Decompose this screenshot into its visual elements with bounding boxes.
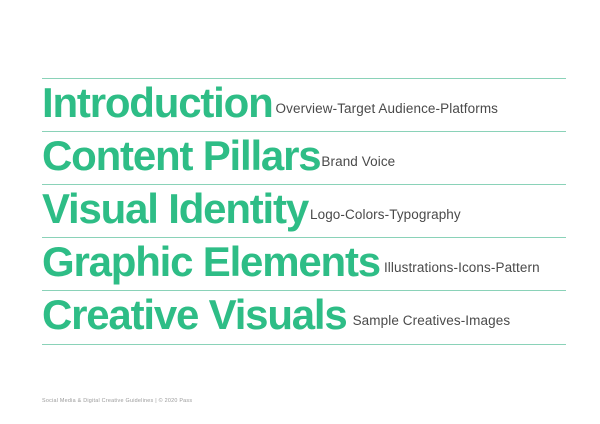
toc-title: Visual Identity xyxy=(42,188,308,230)
toc-entry-visual-identity[interactable]: Visual Identity Logo-Colors-Typography xyxy=(42,185,566,237)
toc-entry-introduction[interactable]: Introduction Overview-Target Audience-Pl… xyxy=(42,79,566,131)
toc-subtitle: Overview-Target Audience-Platforms xyxy=(276,102,499,116)
table-of-contents: Introduction Overview-Target Audience-Pl… xyxy=(42,78,566,345)
slide-footer: Social Media & Digital Creative Guidelin… xyxy=(42,398,192,404)
toc-title: Introduction xyxy=(42,82,273,124)
divider-rule-bottom xyxy=(42,344,566,345)
slide-canvas: Introduction Overview-Target Audience-Pl… xyxy=(0,0,600,424)
toc-subtitle: Logo-Colors-Typography xyxy=(310,208,461,222)
toc-title: Creative Visuals xyxy=(42,294,347,336)
toc-title: Content Pillars xyxy=(42,135,320,177)
toc-entry-graphic-elements[interactable]: Graphic Elements Illustrations-Icons-Pat… xyxy=(42,238,566,290)
toc-subtitle: Sample Creatives-Images xyxy=(353,314,511,328)
toc-subtitle: Brand Voice xyxy=(321,155,395,169)
toc-title: Graphic Elements xyxy=(42,241,380,283)
toc-entry-creative-visuals[interactable]: Creative Visuals Sample Creatives-Images xyxy=(42,291,566,344)
toc-entry-content-pillars[interactable]: Content Pillars Brand Voice xyxy=(42,132,566,184)
toc-subtitle: Illustrations-Icons-Pattern xyxy=(384,261,540,275)
